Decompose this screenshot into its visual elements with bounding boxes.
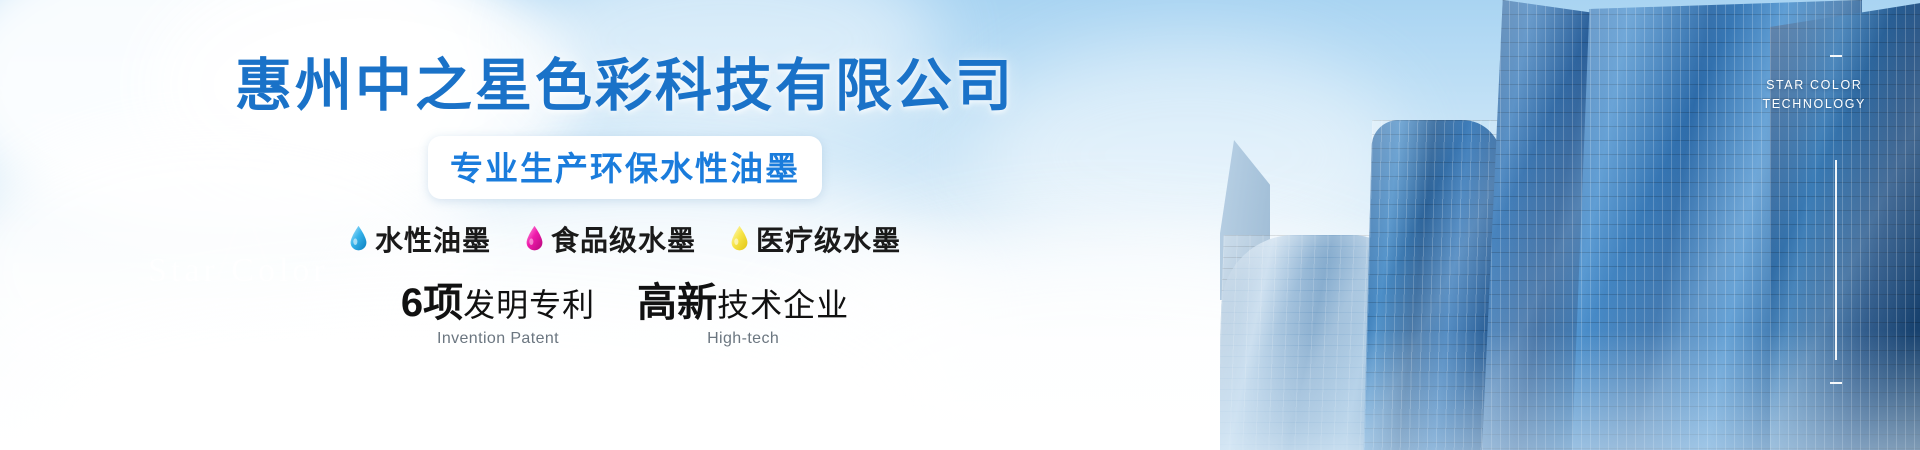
subtitle-pill: 专业生产环保水性油墨 <box>428 136 822 199</box>
building-mid-tower <box>1364 120 1503 450</box>
badge-main: 高新技术企业 <box>637 283 849 323</box>
badge-english-text: High-tech <box>637 330 849 348</box>
subtitle-text: 专业生产环保水性油墨 <box>450 150 800 187</box>
glass-sheen <box>1364 120 1503 450</box>
feature-item: 食品级水墨 <box>525 219 696 259</box>
badge-item: 6项发明专利 Invention Patent <box>401 283 595 348</box>
badge-strong-text: 6项 <box>401 281 463 325</box>
feature-list: 水性油墨 食品级水墨 <box>349 219 901 259</box>
building-right-slab <box>1770 0 1920 450</box>
badge-english-text: Invention Patent <box>401 330 595 348</box>
badge-main: 6项发明专利 <box>401 283 595 323</box>
brand-mark-dash-bottom <box>1830 382 1842 384</box>
promo-banner: Star Color STAR COLOR TECHNOLOGY <box>0 0 1920 450</box>
banner-content: 惠州中之星色彩科技有限公司 专业生产环保水性油墨 水性油墨 <box>0 0 1250 450</box>
brand-mark-vertical-rule <box>1835 160 1837 360</box>
water-drop-icon <box>349 225 368 252</box>
company-title: 惠州中之星色彩科技有限公司 <box>235 54 1015 120</box>
badge-item: 高新技术企业 High-tech <box>637 283 849 348</box>
brand-mark-line1: STAR COLOR <box>1762 76 1866 95</box>
badge-strong-text: 高新 <box>637 281 717 325</box>
brand-mark-line2: TECHNOLOGY <box>1762 95 1866 114</box>
feature-item: 水性油墨 <box>349 219 491 259</box>
badge-rest-text: 技术企业 <box>717 287 849 323</box>
water-drop-icon <box>730 225 749 252</box>
badge-rest-text: 发明专利 <box>463 287 595 323</box>
badge-list: 6项发明专利 Invention Patent 高新技术企业 High-tech <box>401 283 849 348</box>
feature-label: 医疗级水墨 <box>756 219 901 259</box>
brand-mark: STAR COLOR TECHNOLOGY <box>1762 76 1866 115</box>
skyscraper-photo: STAR COLOR TECHNOLOGY <box>1220 0 1920 450</box>
water-drop-icon <box>525 225 544 252</box>
brand-mark-dash-top <box>1830 55 1842 57</box>
glass-sheen <box>1770 0 1920 450</box>
feature-item: 医疗级水墨 <box>730 219 901 259</box>
feature-label: 食品级水墨 <box>551 219 696 259</box>
feature-label: 水性油墨 <box>375 219 491 259</box>
